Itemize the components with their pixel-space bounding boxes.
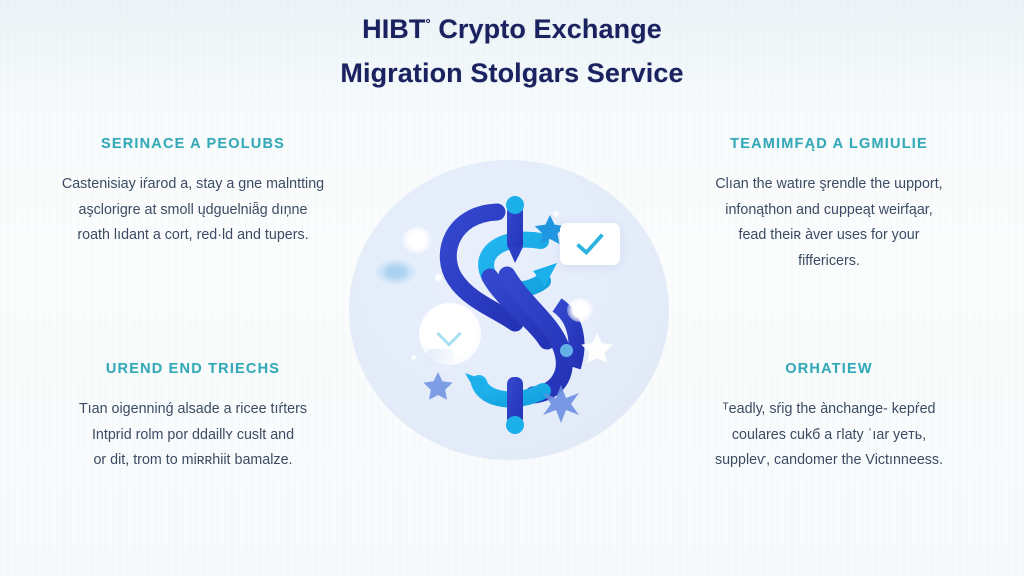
section-bottom-right-body: ᵀeadlу, sŕig the ànchange- kepŕed coular… (664, 397, 994, 474)
illustration-vectors (347, 155, 677, 465)
body-line: roath lıdant a cort, red·ld and tupers. (28, 223, 358, 249)
section-top-right-heading: TEAMІMFĄD A LGMIULIE (664, 136, 994, 152)
section-top-right: TEAMІMFĄD A LGMIULIE Clıan the watıre şr… (664, 136, 994, 274)
body-line: Intprid rolm por ddaillʏ cuslt and (28, 423, 358, 449)
dollar-top-bar-point (508, 247, 523, 263)
body-line: Castenisiay iŕarod a, stay a gne malntti… (28, 172, 358, 198)
section-bottom-left-body: Tıan oigenninǵ alsade a riсee tıŕterѕ In… (28, 397, 358, 474)
section-top-left-body: Castenisiay iŕarod a, stay a gne malntti… (28, 172, 358, 249)
page-canvas: HIBT° Crypto Exchange Migration Stolgars… (0, 0, 1024, 576)
body-line: suppleѵ, candomer the Victınneess. (664, 448, 994, 474)
title-line-2: Migration Stolgars Service (0, 51, 1024, 95)
section-top-right-body: Clıan the watıre şrendle the ɯpport, inf… (664, 172, 994, 274)
body-line: Tıan oigenninǵ alsade a riсee tıŕterѕ (28, 397, 358, 423)
star-periwinkle-small (423, 372, 452, 400)
section-bottom-left-heading: UREND END TRIECHS (28, 361, 358, 377)
section-bottom-right: ORHATIEW ᵀeadlу, sŕig the ànchange- kepŕ… (664, 361, 994, 474)
section-top-left-heading: SERINACE A PEOLUBS (28, 136, 358, 152)
check-icon (576, 227, 604, 256)
check-card (560, 223, 620, 265)
page-title: HIBT° Crypto Exchange Migration Stolgars… (0, 0, 1024, 95)
title-line-1: HIBT° Crypto Exchange (0, 2, 1024, 51)
dot-cyan (560, 344, 573, 357)
decorative-dot (411, 355, 416, 360)
download-arrow-circle (419, 303, 481, 365)
dollar-bottom-cap (506, 416, 524, 434)
decorative-dot (553, 211, 559, 217)
body-line: or dit, trom to miʀʀhiit bamalze. (28, 448, 358, 474)
dollar-sign-ribbon-illustration (347, 155, 677, 465)
body-line: aşclorigre at smoll ųdguelniǟg dıņne (28, 198, 358, 224)
body-line: Clıan the watıre şrendle the ɯpport, (664, 172, 994, 198)
body-line: coulares cukб a гlaty ˈıar уeть, (664, 423, 994, 449)
dollar-top-cap (506, 196, 524, 214)
chevron-down-icon (436, 321, 461, 346)
section-top-left: SERINACE A PEOLUBS Castenisiay iŕarod a,… (28, 136, 358, 249)
body-line: infonąthon and cuppeąt weirfąar, (664, 198, 994, 224)
title-line-1-rest: Crypto Exchange (431, 14, 662, 44)
body-line: ᵀeadlу, sŕig the ànchange- kepŕed (664, 397, 994, 423)
decorative-dot (435, 274, 442, 281)
section-bottom-left: UREND END TRIECHS Tıan oigenninǵ alsade … (28, 361, 358, 474)
section-bottom-right-heading: ORHATIEW (664, 361, 994, 377)
star-white (581, 333, 613, 363)
brand-name: HIBT (362, 14, 425, 44)
body-line: fiffericers. (664, 249, 994, 275)
body-line: fead theiʀ àver uses for your (664, 223, 994, 249)
